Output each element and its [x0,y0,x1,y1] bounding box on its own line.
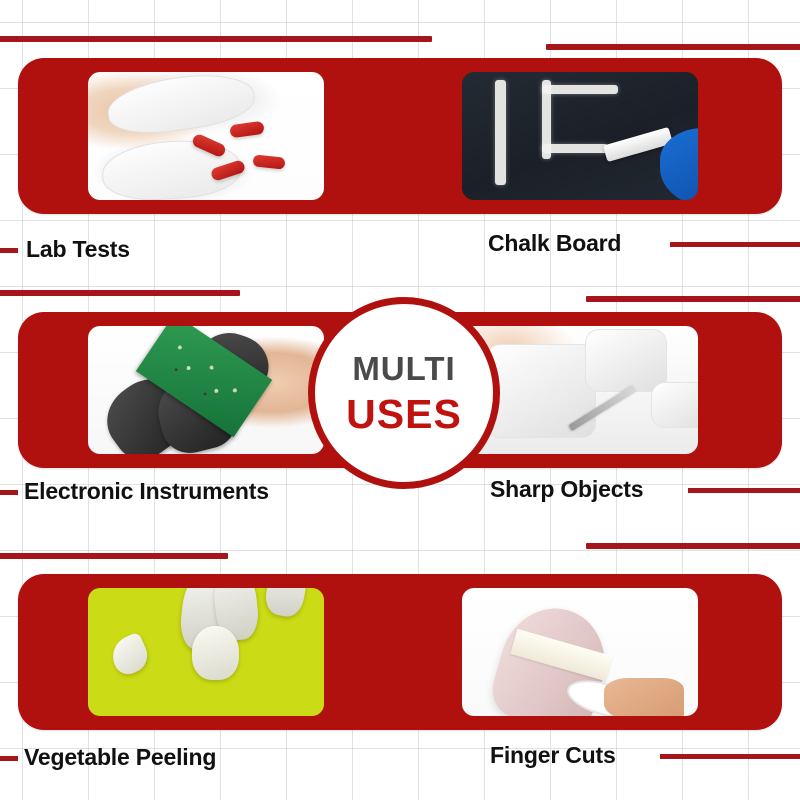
lab-tests-photo-inner [88,72,324,200]
caption-dash-electronic-instruments [0,490,18,495]
caption-lab-tests: Lab Tests [26,236,130,263]
caption-line-finger-cuts [660,754,800,759]
accent-line-top-right [546,44,800,50]
accent-line-top-left [0,36,432,42]
caption-dash-vegetable-peeling [0,756,18,761]
glove-hand-right [585,329,667,392]
center-badge: MULTI USES [308,297,500,489]
chalk-stroke-horizontal-mid [542,144,608,153]
skin-knuckle [604,678,684,716]
electronic-instruments-photo-inner [88,326,324,454]
caption-chalk-board: Chalk Board [488,230,621,257]
capsule-4 [253,155,286,170]
peeling-finger-3 [263,588,309,619]
image-chalk-board [462,72,698,200]
accent-line-mid-left [0,290,240,296]
capsule-1 [229,121,264,139]
image-vegetable-peeling [88,588,324,716]
caption-sharp-objects: Sharp Objects [490,476,643,503]
band-row-1 [18,58,782,214]
caption-line-chalk-board [670,242,800,247]
vegetable-peeling-photo-inner [88,588,324,716]
infographic-canvas: Lab Tests Chalk Board Electronic Instrum… [0,0,800,800]
center-badge-line2: USES [346,394,462,435]
accent-line-low-left [0,553,228,559]
center-badge-line1: MULTI [352,352,455,385]
image-finger-cuts [462,588,698,716]
image-lab-tests [88,72,324,200]
caption-dash-lab-tests [0,248,18,253]
band-row-3 [18,574,782,730]
chalk-stroke-vertical [495,80,506,185]
chalk-board-photo-inner [462,72,698,200]
accent-line-mid-right [586,296,800,302]
garlic-clove-main [192,626,239,680]
caption-vegetable-peeling: Vegetable Peeling [24,744,216,771]
tray-white [651,382,698,428]
accent-line-low-right [586,543,800,549]
chalk-stroke-horizontal-top [542,85,618,94]
garlic-clove-loose [106,631,153,678]
image-electronic-instruments [88,326,324,454]
caption-electronic-instruments: Electronic Instruments [24,478,269,505]
caption-finger-cuts: Finger Cuts [490,742,616,769]
caption-line-sharp-objects [688,488,800,493]
finger-cuts-photo-inner [462,588,698,716]
